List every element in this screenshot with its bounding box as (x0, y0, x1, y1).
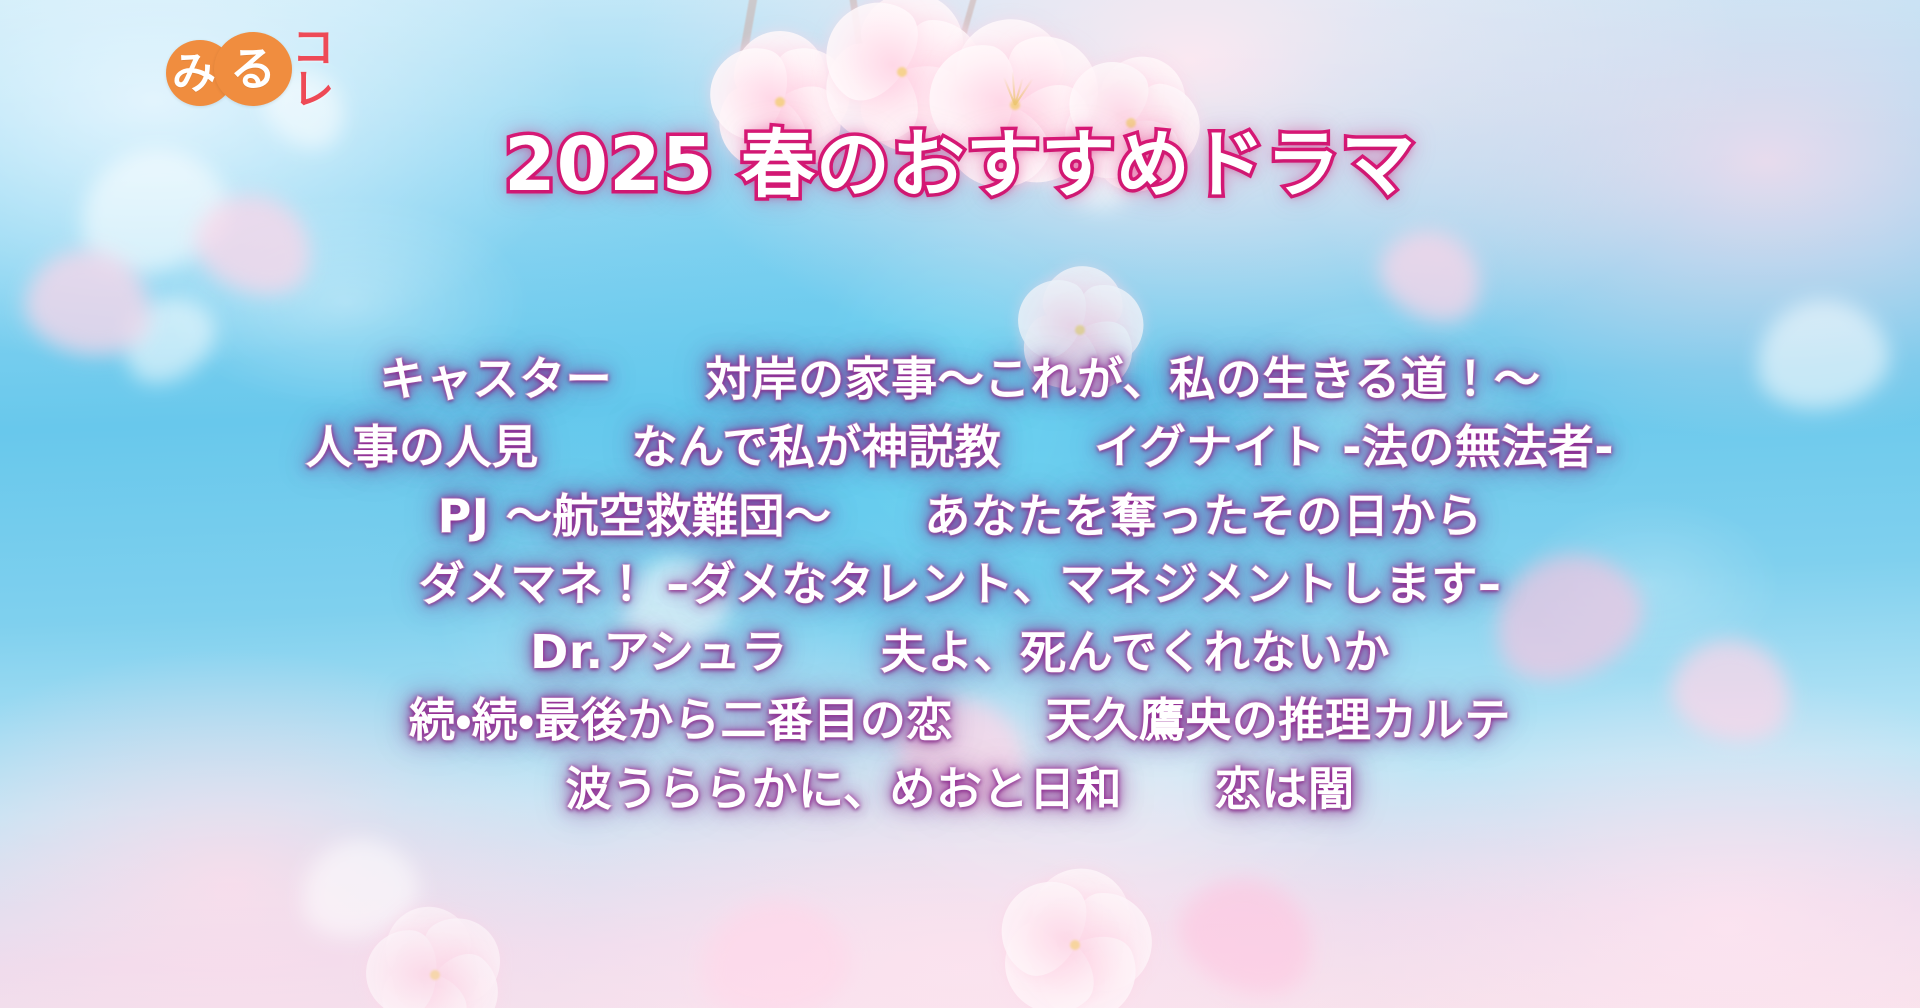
page-title: 2025 春のおすすめドラマ (0, 126, 1920, 206)
logo-katakana-kore: コレ (292, 27, 376, 111)
drama-line: ダメマネ！ –ダメなタレント、マネジメントします– (419, 557, 1502, 611)
blossom-branch (848, 0, 870, 100)
petal-bokeh (17, 238, 162, 366)
petal-bokeh (1163, 856, 1333, 1008)
drama-line: PJ ～航空救難団～ あなたを奪ったその日から (438, 489, 1483, 543)
petal-bokeh (1365, 212, 1498, 338)
mirukore-logo[interactable]: み る コレ (166, 28, 376, 110)
logo-kana-ru: る (230, 46, 276, 92)
logo-kana-mi: み (172, 52, 216, 96)
drama-line: 波うららかに、めおと日和 恋は闇 (565, 762, 1354, 816)
cherry-blossom (360, 900, 510, 1008)
drama-title-list: キャスター 対岸の家事～これが、私の生きる道！～ 人事の人見 なんで私が神説教 … (0, 352, 1920, 816)
cherry-blossom (990, 860, 1160, 1008)
drama-line: 続・続・最後から二番目の恋 天久鷹央の推理カルテ (409, 693, 1511, 747)
petal-bokeh (693, 890, 858, 1008)
petal-bokeh (290, 827, 428, 949)
drama-line: Dr.アシュラ 夫よ、死んでくれないか (530, 625, 1390, 679)
logo-blob-group: み る (166, 30, 296, 108)
drama-line: 人事の人見 なんで私が神説教 イグナイト -法の無法者- (306, 420, 1614, 474)
blossom-branch (952, 0, 978, 65)
drama-line: キャスター 対岸の家事～これが、私の生きる道！～ (380, 352, 1541, 406)
blossom-branch (734, 0, 758, 86)
slide-background: み る コレ 2025 春のおすすめドラマ キャスター 対岸の家事～これが、私の… (0, 0, 1920, 1008)
